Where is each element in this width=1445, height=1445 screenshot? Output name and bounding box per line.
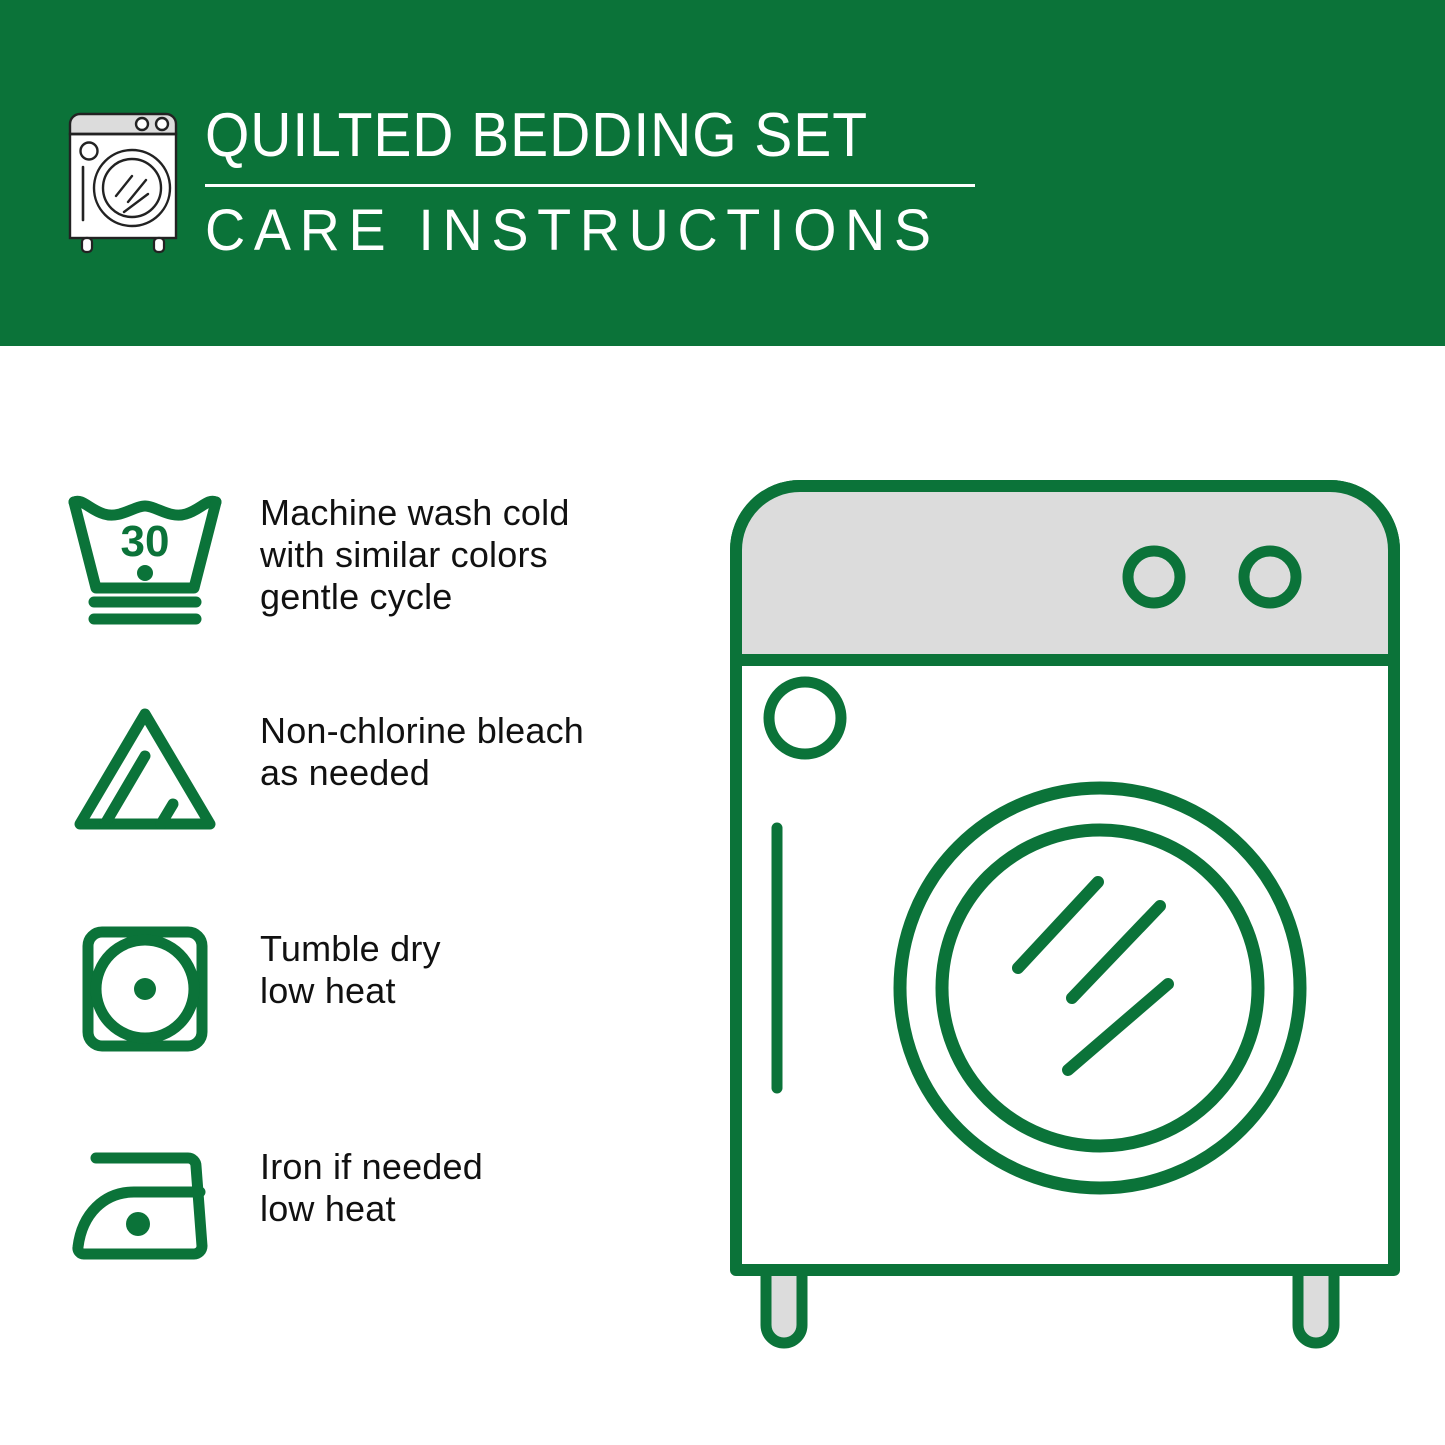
list-item-line: with similar colors	[260, 534, 700, 576]
list-item-text: Iron if needed low heat	[260, 1124, 700, 1230]
list-item-line: Iron if needed	[260, 1146, 700, 1188]
list-item-text: Machine wash cold with similar colors ge…	[260, 470, 700, 618]
front-load-washing-machine-illustration	[720, 470, 1410, 1370]
care-instruction-list: 30 Machine wash cold with similar colors…	[60, 470, 700, 1342]
list-item-line: Non-chlorine bleach	[260, 710, 700, 752]
wash-temperature-label: 30	[121, 517, 170, 566]
page-title: QUILTED BEDDING SET	[205, 100, 941, 172]
list-item: 30 Machine wash cold with similar colors…	[60, 470, 700, 688]
knob-right	[1244, 551, 1296, 603]
title-divider	[205, 184, 975, 187]
page-subtitle: CARE INSTRUCTIONS	[205, 197, 973, 265]
list-item-line: low heat	[260, 1188, 700, 1230]
list-item: Tumble dry low heat	[60, 906, 700, 1124]
tumble-dry-low-heat-icon	[60, 906, 260, 1066]
list-item-line: as needed	[260, 752, 700, 794]
list-item-text: Tumble dry low heat	[260, 906, 700, 1012]
list-item-text: Non-chlorine bleach as needed	[260, 688, 700, 794]
iron-low-heat-icon	[60, 1124, 260, 1284]
header-title-block: QUILTED BEDDING SET CARE INSTRUCTIONS	[205, 100, 1005, 265]
knob-left	[1128, 551, 1180, 603]
list-item-line: Tumble dry	[260, 928, 700, 970]
machine-wash-30-gentle-icon: 30	[60, 470, 260, 630]
washing-machine-icon	[62, 104, 190, 256]
list-item-line: gentle cycle	[260, 576, 700, 618]
list-item: Non-chlorine bleach as needed	[60, 688, 700, 906]
indicator-light	[769, 682, 841, 754]
list-item: Iron if needed low heat	[60, 1124, 700, 1342]
list-item-line: Machine wash cold	[260, 492, 700, 534]
header-banner: QUILTED BEDDING SET CARE INSTRUCTIONS	[0, 0, 1445, 346]
care-instructions-page: QUILTED BEDDING SET CARE INSTRUCTIONS 30	[0, 0, 1445, 1445]
list-item-line: low heat	[260, 970, 700, 1012]
non-chlorine-bleach-icon	[60, 688, 260, 848]
